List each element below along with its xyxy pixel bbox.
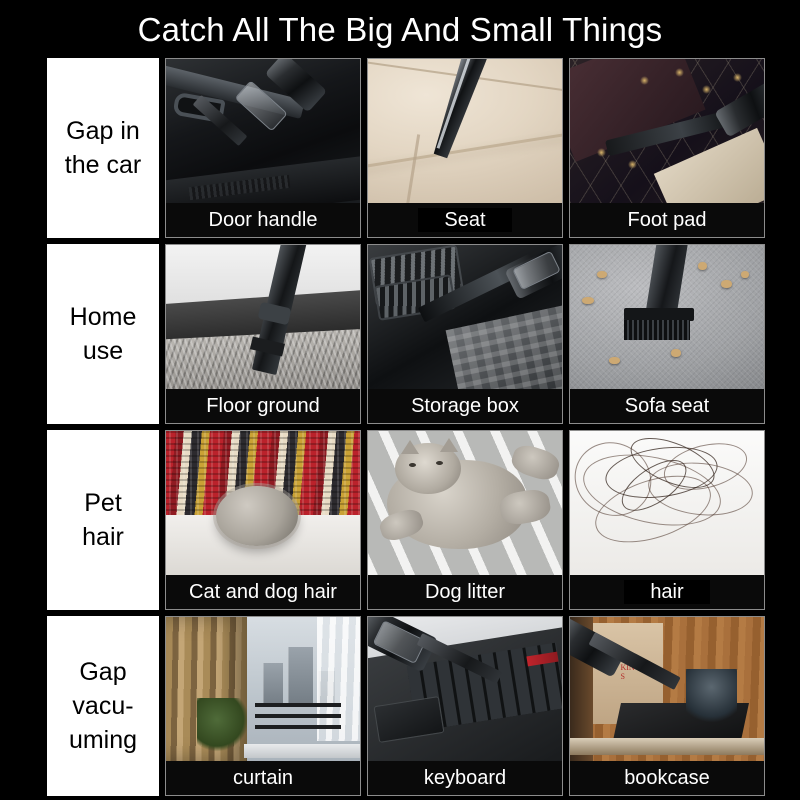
crumb-art bbox=[741, 271, 749, 278]
figurine-art bbox=[686, 669, 736, 729]
photo-sofa-seat bbox=[570, 245, 764, 389]
photo-curtain bbox=[166, 617, 360, 761]
window-sill-art bbox=[244, 744, 360, 758]
caption-foot-pad: Foot pad bbox=[570, 203, 764, 237]
caption-keyboard: keyboard bbox=[368, 761, 562, 795]
row-label-text: Home use bbox=[70, 300, 137, 368]
shelf-board-art bbox=[570, 738, 764, 755]
cell-sofa-seat[interactable]: Sofa seat bbox=[569, 244, 765, 424]
cell-cat-and-dog-hair[interactable]: Cat and dog hair bbox=[165, 430, 361, 610]
photo-keyboard bbox=[368, 617, 562, 761]
crumb-art bbox=[721, 280, 732, 288]
row-label-home-use: Home use bbox=[47, 244, 159, 424]
potted-plant-art bbox=[197, 698, 247, 753]
stitch-point-art bbox=[628, 160, 637, 169]
row-label-text: Pet hair bbox=[82, 486, 124, 554]
photo-door-handle bbox=[166, 59, 360, 203]
caption-sofa-seat: Sofa seat bbox=[570, 389, 764, 423]
cell-floor-ground[interactable]: Floor ground bbox=[165, 244, 361, 424]
caption-cat-and-dog-hair: Cat and dog hair bbox=[166, 575, 360, 609]
row-label-text: Gap vacu- uming bbox=[69, 655, 137, 757]
photo-floor-ground bbox=[166, 245, 360, 389]
crumb-art bbox=[582, 297, 594, 304]
page-title: Catch All The Big And Small Things bbox=[0, 8, 800, 52]
cell-hair[interactable]: hair bbox=[569, 430, 765, 610]
cell-door-handle[interactable]: Door handle bbox=[165, 58, 361, 238]
photo-dog-litter bbox=[368, 431, 562, 575]
photo-foot-pad bbox=[570, 59, 764, 203]
fur-ball-art bbox=[216, 486, 297, 546]
row-label-pet-hair: Pet hair bbox=[47, 430, 159, 610]
usage-scenario-grid: Gap in the car Door handle bbox=[47, 58, 763, 796]
cell-foot-pad[interactable]: Foot pad bbox=[569, 58, 765, 238]
photo-hair bbox=[570, 431, 764, 575]
cell-keyboard[interactable]: keyboard bbox=[367, 616, 563, 796]
crumb-art bbox=[698, 262, 707, 270]
stitch-point-art bbox=[675, 68, 684, 77]
row-label-gap-in-the-car: Gap in the car bbox=[47, 58, 159, 238]
crumb-art bbox=[671, 349, 681, 357]
photo-bookcase: M KING S bbox=[570, 617, 764, 761]
crumb-art bbox=[609, 357, 620, 364]
caption-storage-box: Storage box bbox=[368, 389, 562, 423]
photo-cat-and-dog-hair bbox=[166, 431, 360, 575]
caption-seat: Seat bbox=[368, 203, 562, 237]
cat-ear-art bbox=[401, 440, 419, 454]
row-label-gap-vacuuming: Gap vacu- uming bbox=[47, 616, 159, 796]
cat-ear-art bbox=[440, 438, 458, 452]
caption-curtain: curtain bbox=[166, 761, 360, 795]
balcony-railing-art bbox=[255, 698, 340, 730]
cell-dog-litter[interactable]: Dog litter bbox=[367, 430, 563, 610]
cat-eye-art bbox=[409, 463, 416, 467]
cell-curtain[interactable]: curtain bbox=[165, 616, 361, 796]
cell-storage-box[interactable]: Storage box bbox=[367, 244, 563, 424]
brush-bristles-art bbox=[624, 320, 690, 340]
crumb-art bbox=[597, 271, 607, 278]
product-infographic: Catch All The Big And Small Things Gap i… bbox=[0, 0, 800, 800]
photo-seat bbox=[368, 59, 562, 203]
cell-seat[interactable]: Seat bbox=[367, 58, 563, 238]
caption-door-handle: Door handle bbox=[166, 203, 360, 237]
caption-bookcase: bookcase bbox=[570, 761, 764, 795]
caption-dog-litter: Dog litter bbox=[368, 575, 562, 609]
caption-floor-ground: Floor ground bbox=[166, 389, 360, 423]
row-label-text: Gap in the car bbox=[65, 114, 141, 182]
stitch-point-art bbox=[702, 85, 711, 94]
photo-storage-box bbox=[368, 245, 562, 389]
caption-hair: hair bbox=[570, 575, 764, 609]
cell-bookcase[interactable]: M KING S bookcase bbox=[569, 616, 765, 796]
